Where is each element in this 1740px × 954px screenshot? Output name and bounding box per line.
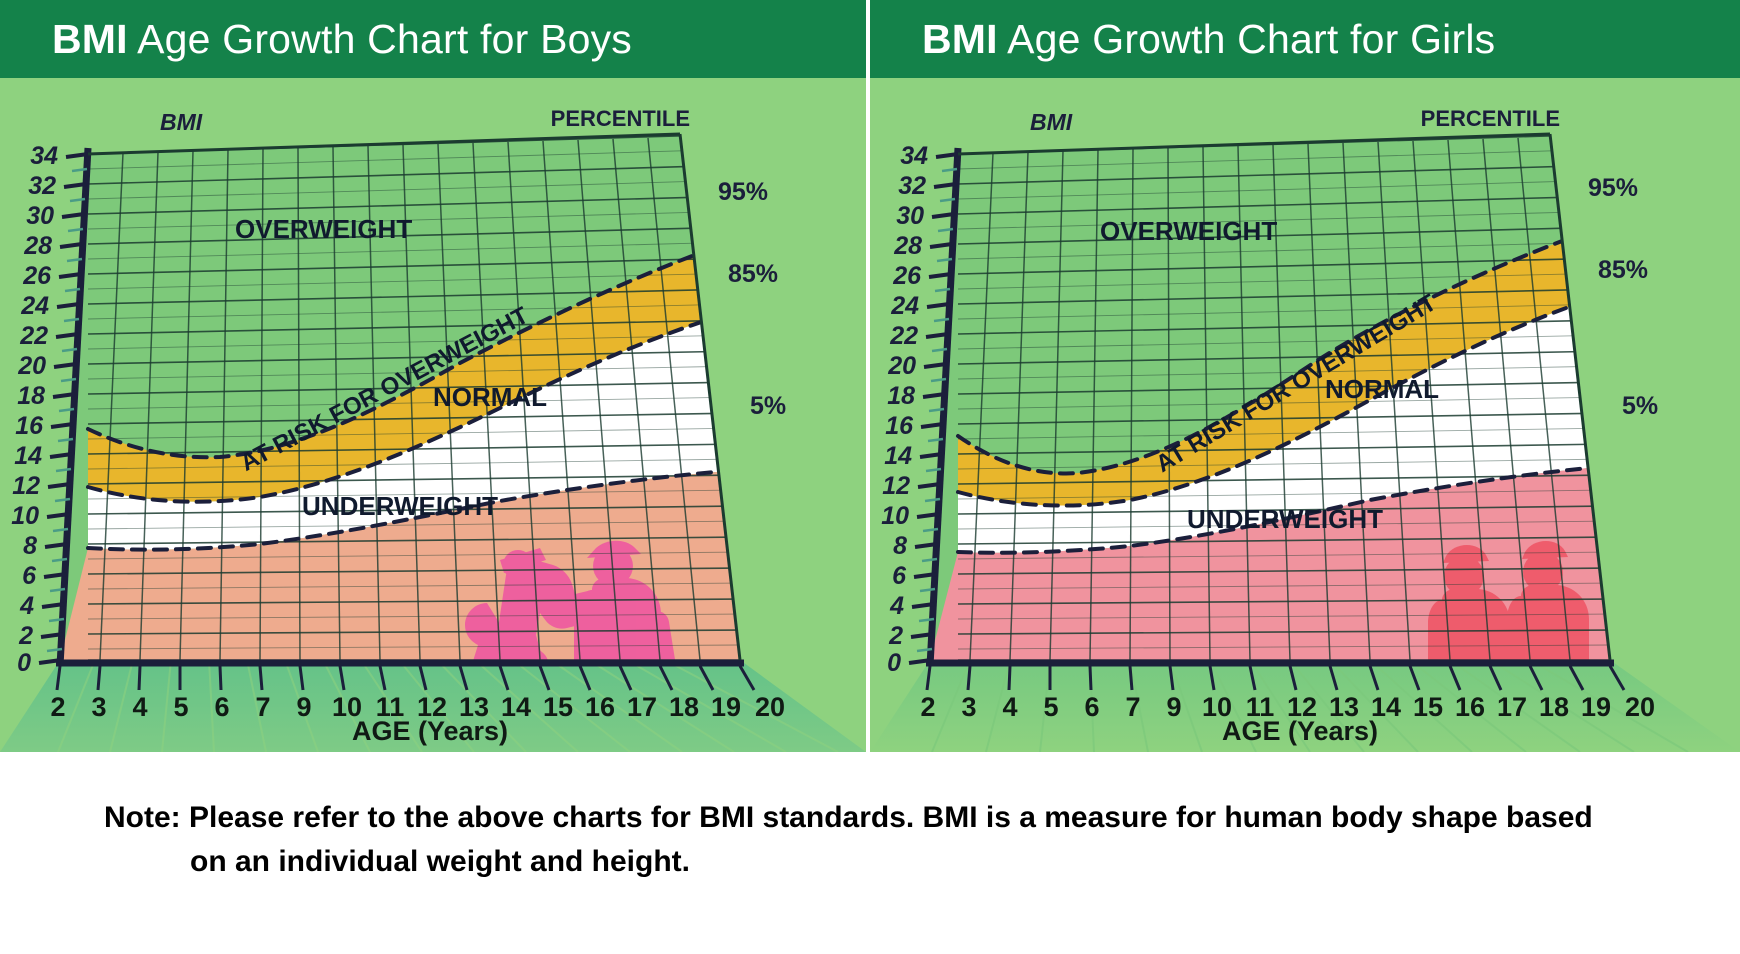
bmi-chart-sheet: BMI Age Growth Chart for Boys (0, 0, 1740, 954)
boys-xtick-16: 16 (585, 692, 615, 722)
note-block: Note: Please refer to the above charts f… (0, 752, 1740, 954)
boys-xtick-7: 7 (255, 692, 270, 722)
charts-row: BMI Age Growth Chart for Boys (0, 0, 1740, 752)
girls-xtick-7: 7 (1125, 692, 1140, 722)
girls-xtick-12: 12 (1287, 692, 1317, 722)
boys-ytick-2: 2 (18, 622, 33, 650)
girls-ytick-18: 18 (887, 382, 915, 410)
girls-label-underweight: UNDERWEIGHT (1187, 504, 1383, 534)
note-line-2: on an individual weight and height. (104, 840, 1620, 884)
girls-xtick-9: 9 (1166, 692, 1181, 722)
boys-xtick-13: 13 (459, 692, 489, 722)
boys-xtick-19: 19 (711, 692, 741, 722)
girls-ytick-10: 10 (881, 502, 909, 530)
boys-ytick-0: 0 (17, 649, 31, 677)
boys-ytick-34: 34 (30, 142, 58, 170)
girls-ytick-30: 30 (896, 202, 924, 230)
panel-boys: BMI Age Growth Chart for Boys (0, 0, 870, 752)
boys-label-overweight: OVERWEIGHT (235, 214, 412, 244)
boys-xtick-10: 10 (332, 692, 362, 722)
boys-ytick-12: 12 (12, 472, 40, 500)
boys-ytick-24: 24 (20, 292, 49, 320)
boys-chart-svg: 34 32 30 28 26 24 22 20 18 16 14 12 10 8 (0, 78, 866, 752)
girls-label-overweight: OVERWEIGHT (1100, 216, 1277, 246)
boys-xtick-4: 4 (132, 692, 147, 722)
boys-xtick-6: 6 (214, 692, 229, 722)
boys-ytick-20: 20 (17, 352, 46, 380)
girls-ytick-8: 8 (893, 532, 907, 560)
girls-xtick-11: 11 (1246, 692, 1275, 722)
girls-xtick-15: 15 (1413, 692, 1443, 722)
boys-percentile-title: PERCENTILE (551, 106, 690, 131)
boys-xtick-18: 18 (669, 692, 699, 722)
girls-xtick-6: 6 (1084, 692, 1099, 722)
girls-xtick-3: 3 (961, 692, 976, 722)
boys-ytick-10: 10 (11, 502, 39, 530)
boys-xtick-3: 3 (91, 692, 106, 722)
panel-girls-title-strong: BMI (922, 16, 998, 62)
panel-boys-title-strong: BMI (52, 16, 128, 62)
boys-ytick-28: 28 (23, 232, 52, 260)
boys-percentile-95: 95% (718, 178, 768, 206)
girls-ytick-14: 14 (884, 442, 912, 470)
boys-y-axis-title: BMI (160, 109, 203, 135)
girls-ytick-16: 16 (885, 412, 914, 440)
boys-label-underweight: UNDERWEIGHT (302, 491, 498, 521)
panel-girls: BMI Age Growth Chart for Girls (870, 0, 1740, 752)
girls-percentile-5: 5% (1622, 392, 1658, 420)
girls-xtick-18: 18 (1539, 692, 1569, 722)
panel-girls-plot: 34 32 30 28 26 24 22 20 18 16 14 12 10 8 (870, 78, 1740, 752)
girls-xtick-14: 14 (1371, 692, 1401, 722)
boys-ytick-6: 6 (22, 562, 37, 590)
boys-ytick-26: 26 (22, 262, 52, 290)
boys-ytick-4: 4 (19, 592, 34, 620)
girls-ytick-26: 26 (892, 262, 922, 290)
boys-percentile-5: 5% (750, 392, 786, 420)
boys-xtick-12: 12 (417, 692, 447, 722)
girls-ytick-24: 24 (890, 292, 919, 320)
boys-ytick-8: 8 (23, 532, 37, 560)
boys-percentile-85: 85% (728, 260, 778, 288)
boys-xtick-5: 5 (173, 692, 188, 722)
girls-xtick-20: 20 (1625, 692, 1655, 722)
girls-ytick-32: 32 (898, 172, 926, 200)
girls-ytick-12: 12 (882, 472, 910, 500)
boys-ytick-30: 30 (26, 202, 54, 230)
girls-xtick-16: 16 (1455, 692, 1485, 722)
panel-girls-title-rest: Age Growth Chart for Girls (998, 16, 1496, 62)
girls-xtick-19: 19 (1581, 692, 1611, 722)
boys-label-normal: NORMAL (433, 382, 547, 412)
panel-girls-titlebar: BMI Age Growth Chart for Girls (870, 0, 1740, 78)
girls-ytick-0: 0 (887, 649, 901, 677)
boys-ytick-32: 32 (28, 172, 56, 200)
boys-ytick-18: 18 (17, 382, 45, 410)
girls-percentile-95: 95% (1588, 174, 1638, 202)
boys-ytick-16: 16 (15, 412, 44, 440)
girls-ytick-28: 28 (893, 232, 922, 260)
girls-y-axis-title: BMI (1030, 109, 1073, 135)
girls-chart-svg: 34 32 30 28 26 24 22 20 18 16 14 12 10 8 (870, 78, 1740, 752)
girls-xtick-10: 10 (1202, 692, 1232, 722)
girls-xtick-5: 5 (1043, 692, 1058, 722)
boys-ytick-14: 14 (14, 442, 42, 470)
girls-xtick-4: 4 (1002, 692, 1017, 722)
boys-xtick-17: 17 (627, 692, 657, 722)
girls-xtick-13: 13 (1329, 692, 1359, 722)
boys-xtick-11: 11 (376, 692, 405, 722)
boys-xtick-9: 9 (296, 692, 311, 722)
panel-boys-plot: 34 32 30 28 26 24 22 20 18 16 14 12 10 8 (0, 78, 866, 752)
panel-boys-title-rest: Age Growth Chart for Boys (128, 16, 632, 62)
girls-ytick-22: 22 (889, 322, 918, 350)
boys-xtick-14: 14 (501, 692, 531, 722)
girls-ytick-4: 4 (889, 592, 904, 620)
girls-ytick-20: 20 (887, 352, 916, 380)
girls-ytick-34: 34 (900, 142, 928, 170)
girls-ytick-6: 6 (892, 562, 907, 590)
girls-xtick-2: 2 (920, 692, 935, 722)
girls-ytick-2: 2 (888, 622, 903, 650)
boys-xtick-20: 20 (755, 692, 785, 722)
girls-label-normal: NORMAL (1325, 374, 1439, 404)
note-line-1: Note: Please refer to the above charts f… (104, 801, 1593, 834)
girls-xtick-17: 17 (1497, 692, 1527, 722)
panel-boys-titlebar: BMI Age Growth Chart for Boys (0, 0, 866, 78)
girls-percentile-85: 85% (1598, 256, 1648, 284)
boys-xtick-2: 2 (50, 692, 65, 722)
boys-ytick-22: 22 (19, 322, 48, 350)
boys-xtick-15: 15 (543, 692, 573, 722)
girls-percentile-title: PERCENTILE (1421, 106, 1560, 131)
